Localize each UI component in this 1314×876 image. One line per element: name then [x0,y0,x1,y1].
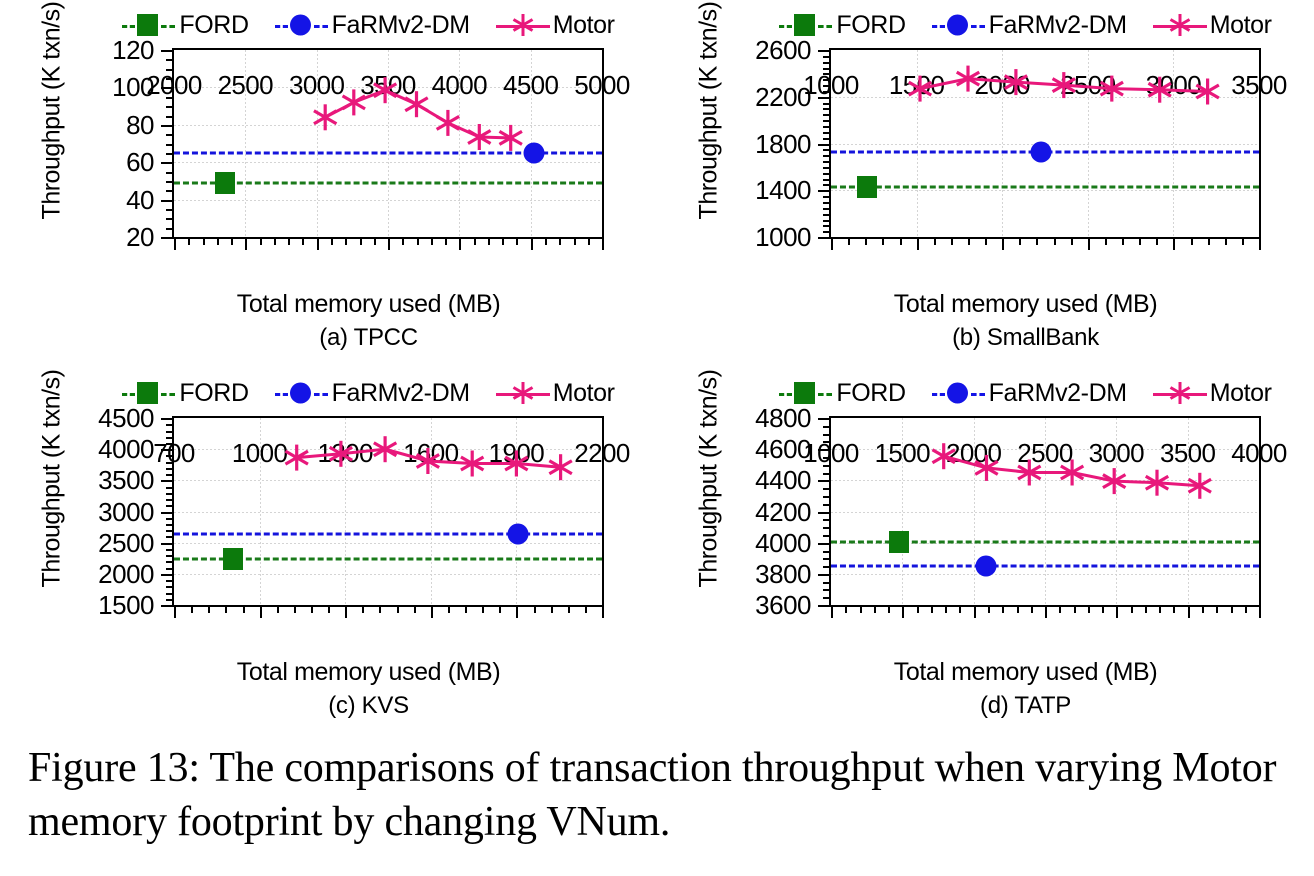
gridline-horizontal [174,574,602,575]
farmv2-marker [507,523,528,544]
x-tick [602,237,604,250]
x-tick-minor [559,237,561,245]
plot-inner: 2040608010012020002500300035004000450050… [174,50,602,237]
plot-inner: 1500200025003000350040004500700100013001… [174,418,602,605]
x-tick-minor [845,605,847,613]
legend-item-farmv2: FaRMv2-DM [932,12,1127,38]
x-tick-minor [277,605,279,613]
legend-label-farmv2: FaRMv2-DM [989,13,1127,38]
x-tick-minor [951,237,953,245]
legend-circle-icon [932,12,986,38]
chart-panel-kvs: FORD FaRMv2-DM Motor Throughput (K txn/s… [0,368,657,728]
y-tick-minor [823,161,831,163]
x-tick-minor [188,237,190,245]
gridline-horizontal [174,543,602,544]
legend-asterisk-icon [496,380,550,406]
motor-point [437,110,460,136]
x-tick-label: 3000 [1089,440,1144,466]
x-tick-label: 700 [153,440,195,466]
x-tick-minor [203,237,205,245]
y-tick-minor [166,493,174,495]
x-tick-minor [482,605,484,613]
y-tick [818,144,831,146]
x-tick-minor [1019,237,1021,245]
subplot-caption-d: (d) TATP [753,692,1298,720]
x-tick-label: 5000 [574,72,629,98]
x-tick-minor [1031,605,1033,613]
x-tick-label: 2500 [1017,440,1072,466]
motor-point [499,125,522,151]
reference-line-farmv2 [831,565,1259,568]
legend-smallbank: FORD FaRMv2-DM Motor [753,10,1298,40]
y-tick-minor [166,561,174,563]
x-tick [260,605,262,618]
y-tick-minor [823,519,831,521]
y-tick-label: 3600 [755,592,811,618]
y-tick-minor [823,504,831,506]
x-tick-minor [1059,605,1061,613]
y-tick [818,237,831,239]
y-tick-minor [166,106,174,108]
y-tick-minor [166,59,174,61]
y-tick-minor [166,116,174,118]
y-tick-label: 2600 [755,37,811,63]
x-tick [174,237,176,250]
legend-label-motor: Motor [1210,381,1272,406]
y-tick-minor [166,586,174,588]
y-axis-title: Throughput (K txn/s) [38,349,67,609]
x-tick [317,237,319,250]
y-tick-minor [166,518,174,520]
x-tick-label: 1900 [489,440,544,466]
x-tick [831,605,833,618]
x-axis-title: Total memory used (MB) [96,658,641,687]
legend-item-motor: Motor [496,380,615,406]
y-tick-minor [823,231,831,233]
y-tick-minor [823,434,831,436]
y-tick [818,418,831,420]
subplot-caption-a: (a) TPCC [96,324,641,352]
x-tick [345,605,347,618]
y-tick-minor [166,599,174,601]
x-tick-label: 3500 [360,72,415,98]
x-tick [1259,237,1261,250]
x-tick-minor [568,605,570,613]
x-tick-minor [985,237,987,245]
y-tick-minor [823,120,831,122]
legend-label-motor: Motor [553,381,615,406]
gridline-horizontal [174,125,602,126]
y-tick [161,237,174,239]
x-tick-minor [1191,237,1193,245]
x-tick-minor [945,605,947,613]
legend-tpcc: FORD FaRMv2-DM Motor [96,10,641,40]
motor-point [1189,473,1212,499]
legend-asterisk-icon [1153,12,1207,38]
x-tick [902,605,904,618]
x-tick-minor [1017,605,1019,613]
y-tick-label: 4000 [755,530,811,556]
y-tick-minor [166,568,174,570]
figure-caption: Figure 13: The comparisons of transactio… [28,742,1298,850]
y-tick-minor [823,551,831,553]
reference-line-ford [831,185,1259,188]
x-tick-minor [294,605,296,613]
y-tick-minor [823,173,831,175]
x-axis-title: Total memory used (MB) [753,290,1298,319]
y-tick-label: 4000 [98,436,154,462]
x-tick-minor [243,605,245,613]
x-tick [1088,237,1090,250]
y-tick-label: 1400 [755,177,811,203]
x-tick-minor [588,237,590,245]
y-tick-minor [823,582,831,584]
y-tick-label: 2000 [98,561,154,587]
x-tick-minor [374,237,376,245]
y-tick-label: 2500 [98,530,154,556]
y-tick-minor [823,426,831,428]
y-tick-minor [823,214,831,216]
x-tick-label: 2000 [974,72,1029,98]
x-tick-label: 4000 [1231,440,1286,466]
legend-circle-icon [932,380,986,406]
y-tick-label: 120 [112,37,154,63]
chart-panel-tatp: FORD FaRMv2-DM Motor Throughput (K txn/s… [657,368,1314,728]
x-tick-label: 1000 [232,440,287,466]
x-tick-minor [934,237,936,245]
x-tick-label: 2500 [218,72,273,98]
x-tick-minor [225,605,227,613]
x-tick-label: 1600 [403,440,458,466]
y-tick-minor [166,431,174,433]
y-tick-minor [823,535,831,537]
y-tick [161,574,174,576]
x-tick-label: 1500 [875,440,930,466]
x-tick-minor [1173,605,1175,613]
y-tick [818,190,831,192]
gridline-horizontal [831,190,1259,191]
plot-area-kvs: 1500200025003000350040004500700100013001… [172,416,604,607]
y-tick-minor [823,108,831,110]
x-tick-minor [1159,605,1161,613]
y-tick-minor [823,138,831,140]
y-tick-label: 3800 [755,561,811,587]
gridline-horizontal [831,512,1259,513]
y-tick-minor [823,184,831,186]
x-tick-minor [585,605,587,613]
legend-item-motor: Motor [1153,12,1272,38]
x-tick [431,605,433,618]
farmv2-marker [523,142,544,163]
x-tick-minor [516,237,518,245]
y-tick-minor [166,555,174,557]
x-tick-minor [311,605,313,613]
y-tick-minor [823,132,831,134]
x-tick [1116,605,1118,618]
y-tick [161,162,174,164]
ford-marker [223,548,243,570]
x-tick-minor [1105,237,1107,245]
y-tick-minor [823,114,831,116]
y-tick-minor [823,126,831,128]
x-tick-minor [362,605,364,613]
gridline-horizontal [174,512,602,513]
x-tick-minor [1131,605,1133,613]
x-tick-minor [900,237,902,245]
x-axis-title: Total memory used (MB) [753,658,1298,687]
x-tick [388,237,390,250]
x-tick-minor [414,605,416,613]
x-tick-minor [397,605,399,613]
x-tick-minor [931,605,933,613]
y-tick-label: 3500 [98,467,154,493]
legend-item-farmv2: FaRMv2-DM [932,380,1127,406]
y-tick-minor [166,530,174,532]
ford-marker [215,172,235,194]
plot-area-tatp: 3600380040004200440046004800100015002000… [829,416,1261,607]
y-tick-minor [823,473,831,475]
motor-point [549,454,572,480]
plot-inner: 3600380040004200440046004800100015002000… [831,418,1259,605]
x-tick-minor [860,605,862,613]
ford-marker [889,531,909,553]
x-tick [1259,605,1261,618]
x-tick-minor [360,237,362,245]
y-tick [161,605,174,607]
y-tick-minor [823,589,831,591]
x-tick [459,237,461,250]
x-tick-label: 1300 [317,440,372,466]
reference-line-farmv2 [174,532,602,535]
x-tick-minor [959,605,961,613]
legend-item-farmv2: FaRMv2-DM [275,12,470,38]
x-tick-minor [488,237,490,245]
y-tick-minor [823,558,831,560]
x-tick-minor [1139,237,1141,245]
y-tick-minor [823,220,831,222]
y-tick-minor [166,487,174,489]
y-tick-minor [823,167,831,169]
chart-panel-tpcc: FORD FaRMv2-DM Motor Throughput (K txn/s… [0,0,657,360]
x-tick-minor [208,605,210,613]
legend-item-motor: Motor [496,12,615,38]
x-tick-minor [1088,605,1090,613]
y-tick-minor [823,62,831,64]
reference-line-ford [174,181,602,184]
x-tick-label: 4500 [503,72,558,98]
x-tick-minor [1156,237,1158,245]
x-tick [1173,237,1175,250]
x-tick [602,605,604,618]
legend-label-ford: FORD [836,13,905,38]
x-tick-minor [431,237,433,245]
x-tick-label: 1000 [803,72,858,98]
subplot-caption-b: (b) SmallBank [753,324,1298,352]
x-tick-minor [1122,237,1124,245]
y-tick-minor [823,196,831,198]
subplot-caption-c: (c) KVS [96,692,641,720]
y-tick-minor [823,149,831,151]
y-tick-minor [823,566,831,568]
y-tick-minor [823,597,831,599]
y-tick-minor [166,524,174,526]
y-tick-label: 4800 [755,405,811,431]
x-tick-minor [379,605,381,613]
x-tick-minor [274,237,276,245]
y-tick-minor [823,155,831,157]
y-tick-minor [166,549,174,551]
y-tick [161,543,174,545]
y-tick-minor [166,181,174,183]
y-tick-label: 1800 [755,131,811,157]
x-tick-minor [231,237,233,245]
legend-kvs: FORD FaRMv2-DM Motor [96,378,641,408]
y-tick [161,125,174,127]
y-tick [818,605,831,607]
y-tick-minor [166,172,174,174]
gridline-horizontal [831,480,1259,481]
y-tick-minor [166,474,174,476]
x-tick-minor [1245,605,1247,613]
x-tick-minor [1036,237,1038,245]
x-tick-label: 1000 [803,440,858,466]
x-tick [531,237,533,250]
motor-point [468,124,491,150]
y-tick [161,418,174,420]
motor-point [1146,470,1169,496]
y-tick-minor [823,496,831,498]
y-tick-label: 1500 [98,592,154,618]
gridline-horizontal [174,200,602,201]
x-tick-minor [1208,237,1210,245]
y-axis-title: Throughput (K txn/s) [38,0,67,241]
legend-item-motor: Motor [1153,380,1272,406]
x-tick-minor [217,237,219,245]
x-tick-minor [848,237,850,245]
x-tick-minor [988,605,990,613]
x-tick [174,605,176,618]
x-tick-label: 2000 [946,440,1001,466]
farmv2-marker [975,556,996,577]
x-tick-minor [888,605,890,613]
x-tick-label: 2500 [1060,72,1115,98]
legend-label-farmv2: FaRMv2-DM [332,381,470,406]
x-tick-minor [968,237,970,245]
x-tick-label: 2000 [146,72,201,98]
motor-point [461,451,484,477]
y-tick [818,543,831,545]
x-tick [1045,605,1047,618]
y-tick-minor [166,144,174,146]
x-axis-title: Total memory used (MB) [96,290,641,319]
legend-label-farmv2: FaRMv2-DM [332,13,470,38]
x-tick-minor [1225,237,1227,245]
ford-marker [857,176,877,198]
y-tick-minor [166,424,174,426]
x-tick-minor [865,237,867,245]
y-tick-label: 80 [126,112,154,138]
y-tick-minor [166,499,174,501]
x-tick [974,605,976,618]
y-tick-label: 40 [126,187,154,213]
x-tick-label: 2200 [574,440,629,466]
farmv2-marker [1030,141,1051,162]
x-tick-minor [574,237,576,245]
x-tick-minor [474,237,476,245]
legend-label-motor: Motor [553,13,615,38]
x-tick-minor [882,237,884,245]
y-tick-minor [166,536,174,538]
plot-area-smallbank: 1000140018002200260010001500200025003000… [829,48,1261,239]
legend-label-farmv2: FaRMv2-DM [989,381,1127,406]
x-tick-minor [874,605,876,613]
x-tick-label: 3500 [1160,440,1215,466]
x-tick-minor [551,605,553,613]
legend-label-ford: FORD [179,13,248,38]
legend-asterisk-icon [496,12,550,38]
y-tick-label: 3000 [98,499,154,525]
y-tick-minor [166,593,174,595]
y-tick-minor [166,209,174,211]
legend-label-motor: Motor [1210,13,1272,38]
x-tick-minor [502,237,504,245]
x-tick-label: 4000 [432,72,487,98]
gridline-horizontal [831,574,1259,575]
plot-inner: 1000140018002200260010001500200025003000… [831,50,1259,237]
y-tick-minor [823,488,831,490]
y-tick-minor [823,208,831,210]
x-tick-minor [499,605,501,613]
x-tick-minor [917,605,919,613]
x-tick-minor [288,237,290,245]
x-tick [917,237,919,250]
y-tick-label: 20 [126,224,154,250]
legend-tatp: FORD FaRMv2-DM Motor [753,378,1298,408]
x-tick-minor [1071,237,1073,245]
x-tick-minor [260,237,262,245]
y-tick-label: 4500 [98,405,154,431]
x-tick-minor [448,605,450,613]
x-tick-minor [465,605,467,613]
y-tick-label: 1000 [755,224,811,250]
legend-circle-icon [275,12,329,38]
x-tick [245,237,247,250]
x-tick-minor [545,237,547,245]
x-tick [831,237,833,250]
x-tick-minor [1216,605,1218,613]
x-tick-minor [1002,605,1004,613]
x-tick-minor [1054,237,1056,245]
y-tick-minor [823,179,831,181]
x-tick [1188,605,1190,618]
x-tick-minor [328,605,330,613]
y-tick-label: 4400 [755,467,811,493]
x-tick-label: 3000 [1146,72,1201,98]
x-tick-minor [1242,237,1244,245]
plot-area-tpcc: 2040608010012020002500300035004000450050… [172,48,604,239]
x-tick-minor [402,237,404,245]
y-tick-label: 4200 [755,499,811,525]
y-tick-minor [166,505,174,507]
y-tick-minor [166,218,174,220]
y-tick-minor [166,190,174,192]
y-tick-minor [823,103,831,105]
y-tick-minor [166,580,174,582]
y-tick [818,574,831,576]
y-tick-minor [823,202,831,204]
y-tick [818,480,831,482]
y-tick-minor [166,134,174,136]
